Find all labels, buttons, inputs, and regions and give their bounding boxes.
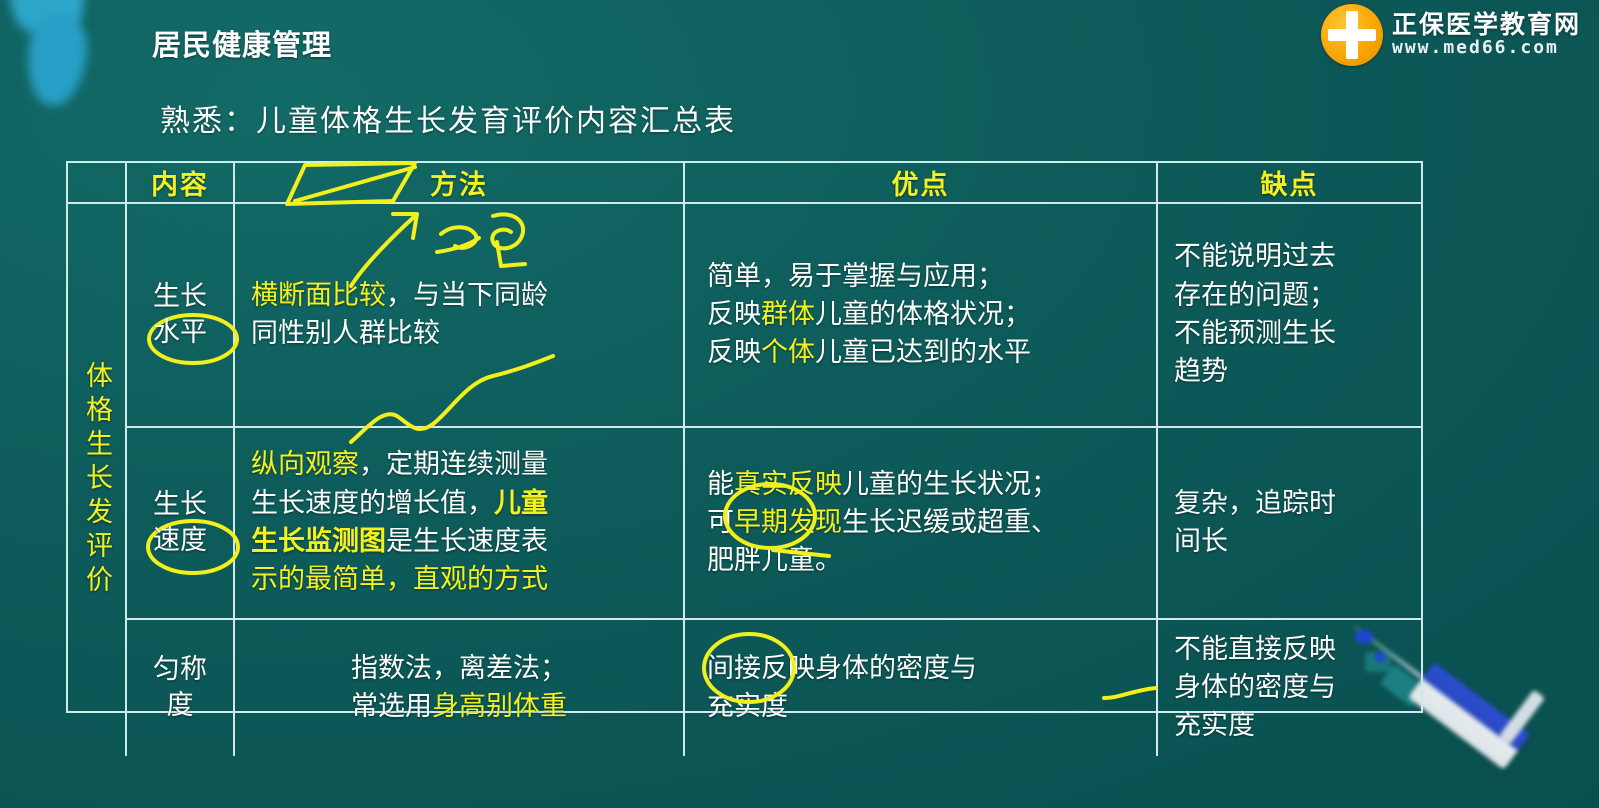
cons-line: 不能直接反映 bbox=[1174, 631, 1413, 669]
row-item-cell: 生长 速度 bbox=[127, 428, 235, 618]
method-line: 常选用身高别体重 bbox=[351, 688, 567, 726]
table-row: 匀称 度 指数法，离差法； 常选用身高别体重 间接反映身体的密度与 充实度 bbox=[127, 620, 1421, 756]
row-method-cell: 指数法，离差法； 常选用身高别体重 bbox=[235, 620, 685, 756]
method-line: 生长速度的增长值，儿童 bbox=[251, 485, 673, 523]
cons-line: 间长 bbox=[1174, 523, 1413, 561]
table-row: 生长 水平 横断面比较，与当下同龄 同性别人群比较 bbox=[127, 204, 1421, 428]
pros-line: 反映个体儿童已达到的水平 bbox=[707, 334, 1146, 372]
row-method-cell: 横断面比较，与当下同龄 同性别人群比较 bbox=[235, 204, 685, 426]
row-item-cell: 生长 水平 bbox=[127, 204, 235, 426]
method-line: 指数法，离差法； bbox=[351, 650, 567, 688]
row-item-label: 生长 水平 bbox=[153, 279, 207, 352]
row-group-label: 体格生长发评价 bbox=[83, 361, 110, 599]
cons-line: 存在的问题； bbox=[1174, 277, 1413, 315]
page-title: 居民健康管理 bbox=[152, 22, 332, 64]
subtitle: 熟悉：儿童体格生长发育评价内容汇总表 bbox=[160, 96, 736, 140]
medical-cross-icon bbox=[1321, 4, 1383, 66]
method-line: 同性别人群比较 bbox=[251, 315, 673, 353]
table-header-pros: 优点 bbox=[685, 163, 1158, 202]
cons-line: 不能说明过去 bbox=[1174, 238, 1413, 276]
method-line: 示的最简单，直观的方式 bbox=[251, 561, 673, 599]
cons-line: 充实度 bbox=[1174, 707, 1413, 745]
row-item-label: 生长 速度 bbox=[153, 487, 207, 560]
header-corner-blank bbox=[68, 163, 127, 202]
cons-line: 不能预测生长 bbox=[1174, 315, 1413, 353]
pros-line: 可早期发现生长迟缓或超重、 bbox=[707, 504, 1146, 542]
pros-line: 充实度 bbox=[707, 688, 1146, 726]
pros-line: 简单，易于掌握与应用； bbox=[707, 258, 1146, 296]
brand-name: 正保医学教育网 bbox=[1392, 12, 1581, 38]
cons-line: 身体的密度与 bbox=[1174, 669, 1413, 707]
method-line: 纵向观察，定期连续测量 bbox=[251, 446, 673, 484]
method-line: 生长监测图是生长速度表 bbox=[251, 523, 673, 561]
row-method-cell: 纵向观察，定期连续测量 生长速度的增长值，儿童 生长监测图是生长速度表 示的最简… bbox=[235, 428, 685, 618]
row-item-label: 匀称 度 bbox=[153, 652, 207, 725]
table-header-method: 方法 bbox=[235, 163, 685, 202]
row-group-label-cell: 体格生长发评价 bbox=[68, 204, 127, 756]
row-pros-cell: 简单，易于掌握与应用； 反映群体儿童的体格状况； 反映个体儿童已达到的水平 bbox=[685, 204, 1158, 426]
brand-url: www.med66.com bbox=[1392, 39, 1581, 58]
row-item-cell: 匀称 度 bbox=[127, 620, 235, 756]
pros-line: 间接反映身体的密度与 bbox=[707, 650, 1146, 688]
pros-line: 能真实反映儿童的生长状况； bbox=[707, 466, 1146, 504]
pros-line: 肥胖儿童。 bbox=[707, 542, 1146, 580]
table-header-item: 内容 bbox=[127, 163, 235, 202]
cons-line: 复杂，追踪时 bbox=[1174, 485, 1413, 523]
row-pros-cell: 间接反映身体的密度与 充实度 bbox=[685, 620, 1158, 756]
row-cons-cell: 复杂，追踪时 间长 bbox=[1158, 428, 1421, 618]
table-row: 生长 速度 纵向观察，定期连续测量 生长速度的增长值，儿童 生长监测图是生长速度… bbox=[127, 428, 1421, 620]
method-line: 横断面比较，与当下同龄 bbox=[251, 277, 673, 315]
row-pros-cell: 能真实反映儿童的生长状况； 可早期发现生长迟缓或超重、 肥胖儿童。 bbox=[685, 428, 1158, 618]
summary-table: 内容 方法 优点 缺点 体格生长发评价 生长 水平 bbox=[66, 161, 1423, 713]
table-header-cons: 缺点 bbox=[1158, 163, 1421, 202]
table-header-row: 内容 方法 优点 缺点 bbox=[68, 163, 1421, 204]
row-cons-cell: 不能说明过去 存在的问题； 不能预测生长 趋势 bbox=[1158, 204, 1421, 426]
brand-logo: 正保医学教育网 www.med66.com bbox=[1321, 4, 1581, 66]
cons-line: 趋势 bbox=[1174, 353, 1413, 391]
row-cons-cell: 不能直接反映 身体的密度与 充实度 bbox=[1158, 620, 1421, 756]
pros-line: 反映群体儿童的体格状况； bbox=[707, 296, 1146, 334]
